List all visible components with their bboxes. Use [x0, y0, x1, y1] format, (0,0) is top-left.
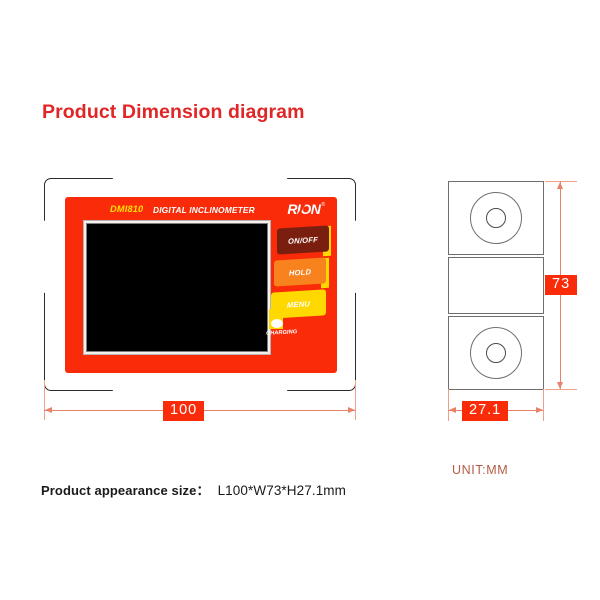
- dim-extension-line-left: [44, 380, 45, 420]
- dim-arrow-left-icon: [45, 407, 52, 413]
- dim-arrow-down-icon: [557, 382, 563, 389]
- lcd-bezel: [83, 220, 271, 355]
- unit-note: UNIT:MM: [452, 463, 508, 477]
- footer-caption: Product appearance size： L100*W73*H27.1m…: [41, 480, 346, 499]
- footer-value: L100*W73*H27.1mm: [218, 483, 346, 498]
- dimension-diagram-page: Product Dimension diagram DMI810 DIGITAL…: [0, 0, 600, 600]
- dim-label-width: 100: [163, 401, 204, 421]
- side-block-middle: [448, 257, 544, 314]
- power-button-label: ON/OFF: [288, 235, 318, 246]
- dim-arrow-right-icon: [536, 407, 543, 413]
- dim-arrow-left-icon: [449, 407, 456, 413]
- menu-button[interactable]: MENU: [271, 289, 326, 318]
- power-button[interactable]: ON/OFF: [277, 225, 329, 254]
- device-subtitle-label: DIGITAL INCLINOMETER: [153, 205, 255, 215]
- footer-label: Product appearance size：: [41, 480, 210, 499]
- dim-arrow-right-icon: [348, 407, 355, 413]
- dim-extension-line-depth-left: [448, 389, 449, 421]
- charging-label: CHARGING: [266, 329, 298, 337]
- hold-button[interactable]: HOLD: [274, 257, 326, 286]
- charging-led-icon: [271, 319, 283, 328]
- lcd-screen: [86, 223, 268, 352]
- dim-extension-line-right: [355, 380, 356, 420]
- side-view: [448, 181, 544, 390]
- dim-label-depth: 27.1: [462, 401, 508, 421]
- device-model-label: DMI810: [110, 204, 143, 214]
- front-view: DMI810 DIGITAL INCLINOMETER RION ® ON/OF…: [40, 178, 358, 393]
- dim-extension-line-depth-right: [543, 389, 544, 421]
- page-title: Product Dimension diagram: [42, 101, 305, 124]
- mounting-hole-inner-top: [486, 208, 506, 228]
- dim-label-height: 73: [545, 275, 577, 295]
- mounting-hole-inner-bottom: [486, 343, 506, 363]
- hold-button-label: HOLD: [289, 267, 311, 277]
- trademark-icon: ®: [321, 202, 325, 208]
- brand-logo: RION ®: [287, 202, 325, 216]
- menu-button-label: MENU: [287, 299, 310, 309]
- device-body: DMI810 DIGITAL INCLINOMETER RION ® ON/OF…: [65, 197, 337, 373]
- dim-arrow-up-icon: [557, 182, 563, 189]
- dim-extension-line-bottom: [545, 389, 577, 390]
